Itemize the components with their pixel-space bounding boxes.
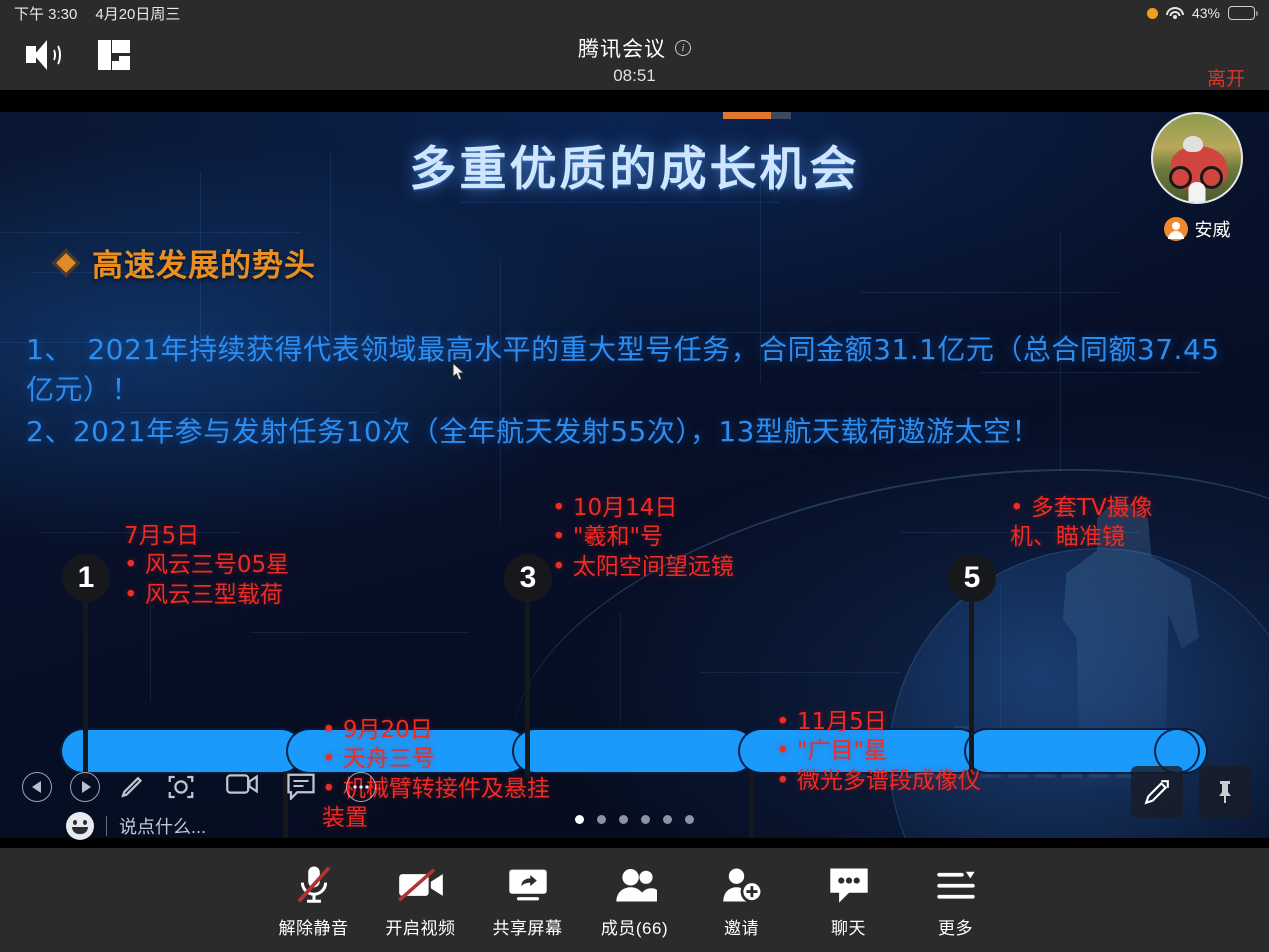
status-bar-left: 下午 3:30 4月20日周三 [14,3,180,24]
timeline-node-number: 3 [504,554,552,602]
chat-bubble-icon[interactable] [286,772,316,802]
toolbar-label: 成员(66) [581,914,688,939]
meeting-app-window: 下午 3:30 4月20日周三 43% 腾讯会议 i 08:51 [0,0,1269,952]
mouse-cursor [452,362,466,382]
status-time: 下午 3:30 [14,3,77,24]
more-dots-icon[interactable] [346,772,376,802]
video-off-icon [367,862,474,908]
timeline-date: • 11月5日 [776,708,986,737]
system-status-bar: 下午 3:30 4月20日周三 43% [0,0,1269,26]
pagination-dot[interactable] [641,815,650,824]
timeline-node-1-text: 7月5日 • 风云三号05星 • 风云三型载荷 [124,522,289,610]
participants-button[interactable]: 成员(66) [581,862,688,939]
presentation-slide: 多重优质的成长机会 高速发展的势头 1、 2021年持续获得代表领域最高水平的重… [0,112,1269,838]
timeline-bar [62,730,1192,772]
section-heading-text: 高速发展的势头 [92,240,316,285]
meeting-title-block: 腾讯会议 i 08:51 [0,26,1269,86]
participant-tile[interactable]: 安威 [1143,112,1251,242]
participant-name: 安威 [1195,216,1231,242]
timeline-item: • 风云三型载荷 [124,581,289,610]
meeting-bottom-toolbar: 解除静音 开启视频 共享屏幕 [0,848,1269,952]
timeline-date: • 10月14日 [552,494,734,523]
slide-bullet-2: 2、2021年参与发射任务10次（全年航天发射55次），13型航天载荷遨游太空！ [26,412,1246,452]
host-badge-icon [1164,217,1188,241]
status-date: 4月20日周三 [95,3,180,24]
slide-bullet-1: 1、 2021年持续获得代表领域最高水平的重大型号任务，合同金额31.1亿元（总… [26,330,1246,410]
slide-control-overlay[interactable] [22,772,376,802]
toolbar-label: 开启视频 [367,914,474,939]
battery-icon [1228,6,1255,20]
recording-dot-icon [1147,8,1158,19]
timeline-node-stick [83,602,88,778]
toolbar-label: 邀请 [688,914,795,939]
layout-icon[interactable] [98,40,130,70]
timeline-date: • 9月20日 [322,716,572,745]
timeline-item: • "羲和"号 [552,523,734,552]
more-button[interactable]: 更多 [902,862,1009,939]
timeline-node-stick [749,772,754,838]
more-menu-icon [902,862,1009,908]
slide-accent-bar-orange [723,112,771,119]
video-camera-icon[interactable] [226,772,256,802]
shared-screen-stage[interactable]: 多重优质的成长机会 高速发展的势头 1、 2021年持续获得代表领域最高水平的重… [0,90,1269,848]
chat-input-placeholder[interactable]: 说点什么... [119,813,206,839]
info-icon[interactable]: i [675,40,691,56]
wifi-icon [1166,7,1184,20]
chat-input-row[interactable]: 说点什么... [66,812,206,840]
status-bar-right: 43% [1147,5,1255,21]
pencil-icon[interactable] [118,772,148,802]
timeline-item: • 微光多谱段成像仪 [776,767,986,796]
share-screen-button[interactable]: 共享屏幕 [474,862,581,939]
pagination-dot[interactable] [597,815,606,824]
meeting-title: 腾讯会议 [578,33,666,63]
timeline-node-1: 1 [62,554,110,778]
timeline-node-3-text: • 10月14日 • "羲和"号 • 太阳空间望远镜 [552,494,734,582]
next-slide-icon[interactable] [70,772,100,802]
share-screen-icon [474,862,581,908]
timeline-node-4: 4 [728,772,776,838]
prev-slide-icon[interactable] [22,772,52,802]
slide-title: 多重优质的成长机会 [0,130,1269,199]
emoji-icon[interactable] [66,812,94,840]
diamond-bullet-icon [52,248,80,276]
timeline-date: 7月5日 [124,522,289,551]
timeline-node-4-text: • 11月5日 • "广目"星 • 微光多谱段成像仪 [776,708,986,796]
participants-icon [581,862,688,908]
microphone-muted-indicator-icon [1189,182,1206,204]
meeting-elapsed-time: 08:51 [0,66,1269,86]
timeline-node-5-text: • 多套TV摄像机、瞄准镜 [1010,494,1190,553]
timeline-node-number: 1 [62,554,110,602]
timeline-item: • 天舟三号 [322,745,572,774]
toolbar-label: 解除静音 [260,914,367,939]
timeline-item: • "广目"星 [776,737,986,766]
speaker-icon[interactable] [26,38,68,72]
pagination-dot[interactable] [663,815,672,824]
pagination-dot[interactable] [685,815,694,824]
leave-meeting-button[interactable]: 离开 [1207,64,1245,91]
timeline-item: • 多套TV摄像机、瞄准镜 [1010,494,1190,553]
toolbar-label: 聊天 [795,914,902,939]
start-video-button[interactable]: 开启视频 [367,862,474,939]
timeline-node-number: 5 [948,554,996,602]
divider [106,816,107,836]
focus-frame-icon[interactable] [166,772,196,802]
slide-accent-bar-gray [771,112,791,119]
timeline-item: • 太阳空间望远镜 [552,553,734,582]
microphone-muted-icon [260,862,367,908]
pagination-dot[interactable] [619,815,628,824]
annotate-button[interactable] [1131,766,1183,818]
header-left-icons [26,38,130,72]
pin-button[interactable] [1199,766,1251,818]
meeting-header: 腾讯会议 i 08:51 离开 [0,26,1269,90]
toolbar-label: 共享屏幕 [474,914,581,939]
chat-button[interactable]: 聊天 [795,862,902,939]
slide-section-heading: 高速发展的势头 [56,240,316,285]
slide-bullet-list: 1、 2021年持续获得代表领域最高水平的重大型号任务，合同金额31.1亿元（总… [26,330,1246,453]
battery-percent: 43% [1192,5,1220,21]
timeline-item: • 风云三号05星 [124,551,289,580]
chat-icon [795,862,902,908]
invite-person-icon [688,862,795,908]
invite-button[interactable]: 邀请 [688,862,795,939]
participant-name-row: 安威 [1143,216,1251,242]
avatar [1151,112,1243,204]
unmute-button[interactable]: 解除静音 [260,862,367,939]
toolbar-label: 更多 [902,914,1009,939]
pagination-dot[interactable] [575,815,584,824]
